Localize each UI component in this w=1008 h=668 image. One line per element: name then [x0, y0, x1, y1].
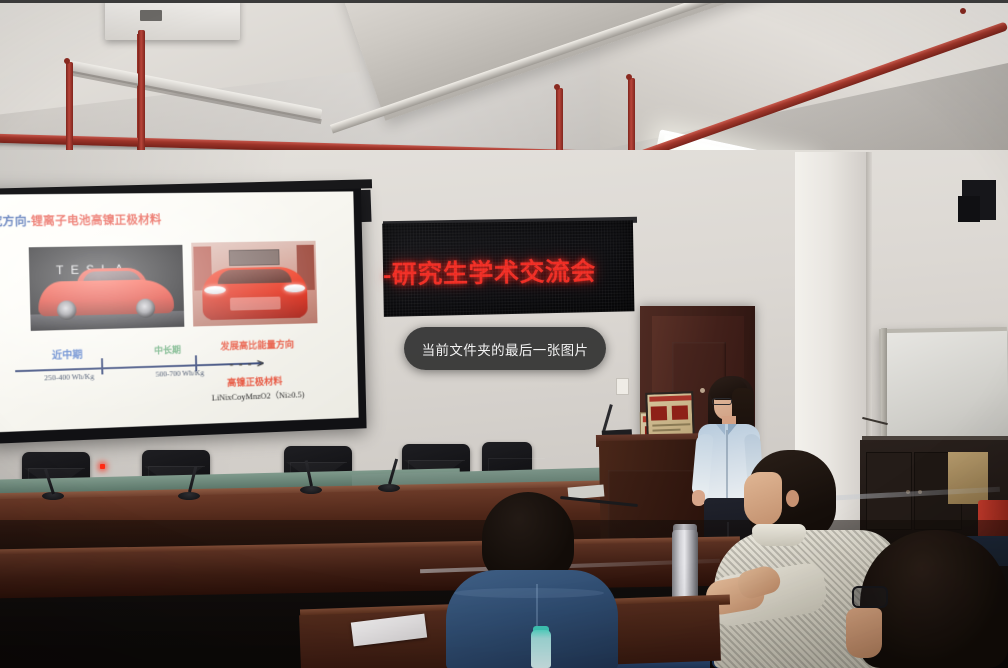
timeline-near-term-label: 近中期 — [52, 346, 83, 362]
presenter-glasses — [712, 398, 732, 405]
laptop-slide-image — [651, 406, 667, 421]
laptop-slide-text-line — [652, 423, 690, 426]
projector-vent — [140, 10, 162, 21]
podium-laptop-screen — [645, 391, 695, 439]
sprinkler-head — [554, 84, 560, 90]
timeline-near-term-value: 250-400 Wh/Kg — [44, 372, 94, 383]
laptop-slide-text-line — [652, 429, 680, 432]
sprinkler-drop-pipe — [556, 88, 563, 154]
audience-glasses-face — [846, 608, 882, 658]
laptop-slide-header — [649, 395, 691, 401]
projected-slide: 研究方向-锂离子电池高镍正极材料 TESLA 近中期 — [0, 191, 359, 432]
audience-glasses — [830, 530, 1008, 668]
photo-top-band — [0, 0, 1008, 3]
wall-speaker-right-bracket — [958, 196, 980, 222]
water-bottle — [531, 630, 551, 668]
microphone-base — [378, 484, 400, 492]
audience-polo-collar — [752, 524, 806, 546]
timeline-tick — [101, 358, 103, 374]
laptop-slide-image — [672, 405, 688, 420]
timeline-direction-label: 发展高比能量方向 — [220, 337, 294, 353]
timeline-mid-long-value: 500-700 Wh/Kg — [156, 368, 205, 379]
timeline-axis — [15, 362, 263, 372]
showroom-display-screen — [229, 249, 280, 266]
car-front-windshield — [217, 269, 291, 284]
sprinkler-drop-pipe — [138, 30, 145, 158]
timeline-arrow: - - - > — [229, 356, 264, 371]
photo-viewer-canvas[interactable]: 研究方向-锂离子电池高镍正极材料 TESLA 近中期 — [0, 0, 1008, 668]
microphone-base — [178, 492, 200, 500]
microphone-status-led — [100, 464, 105, 469]
sprinkler-drop-pipe — [628, 78, 635, 156]
slide-image-tesla-model-3: TESLA — [29, 245, 185, 331]
thermos-bottle — [672, 530, 698, 602]
presenter-collar — [728, 424, 737, 435]
slide-image-tesla-model-s-front — [191, 241, 317, 327]
slide-title: 研究方向-锂离子电池高镍正极材料 — [0, 211, 162, 229]
slide-title-main: 锂离子电池高镍正极材料 — [31, 214, 162, 228]
timeline-chemical-formula: LiNixCoyMnzO2（Ni≥0.5) — [212, 388, 305, 403]
presenter-collar — [716, 424, 725, 435]
sprinkler-head — [626, 74, 632, 80]
cardboard-box — [948, 452, 988, 504]
sprinkler-head — [64, 58, 70, 64]
audience-glasses-eyewear — [852, 586, 888, 608]
timeline-material-label: 高镍正极材料 — [227, 373, 283, 389]
audience-denim-head — [482, 492, 574, 582]
light-switch-plate[interactable] — [616, 378, 629, 395]
sprinkler-drop-pipe — [66, 62, 73, 154]
audience-polo-ear — [786, 490, 799, 507]
car-license-plate — [230, 297, 281, 311]
sprinkler-head — [960, 8, 966, 14]
ceiling-projector — [105, 0, 240, 40]
toast-message: 当前文件夹的最后一张图片 — [422, 339, 589, 359]
audience-denim-shoulder-seam — [454, 588, 604, 598]
slide-title-prefix: 研究方向- — [0, 216, 31, 229]
led-banner-text: -研究生学术交流会 — [383, 251, 639, 291]
audience-denim — [440, 492, 620, 668]
toast-notification: 当前文件夹的最后一张图片 — [404, 327, 606, 370]
timeline-mid-long-label: 中长期 — [154, 343, 181, 357]
audience-polo-face — [744, 472, 782, 526]
microphone-base — [300, 486, 322, 494]
